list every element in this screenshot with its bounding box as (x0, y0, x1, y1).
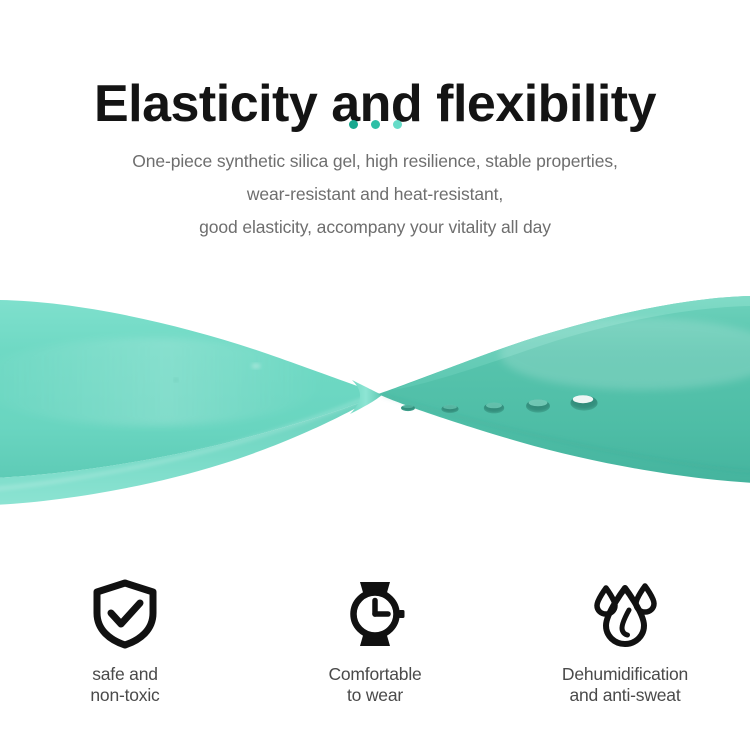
feature-caption: Dehumidification and anti-sweat (562, 664, 688, 706)
feature-caption-line-1: safe and (90, 664, 159, 685)
feature-caption-line-1: Dehumidification (562, 664, 688, 685)
feature-caption-line-2: to wear (328, 685, 421, 706)
product-photo (0, 262, 750, 520)
subtitle-line-3: good elasticity, accompany your vitality… (0, 211, 750, 244)
feature-caption: safe and non-toxic (90, 664, 159, 706)
adjustment-hole-1 (401, 405, 415, 411)
feature-caption-line-1: Comfortable (328, 664, 421, 685)
feature-row: safe and non-toxic (0, 578, 750, 706)
adjustment-hole-2 (441, 405, 458, 413)
subtitle-block: One-piece synthetic silica gel, high res… (0, 145, 750, 244)
feature-comfortable-to-wear: Comfortable to wear (250, 578, 500, 706)
feature-caption: Comfortable to wear (328, 664, 421, 706)
dot-separator (0, 120, 750, 129)
band-speck-2 (174, 379, 178, 382)
wristwatch-icon (340, 578, 410, 650)
separator-dot-1 (349, 120, 358, 129)
shield-check-icon (91, 578, 159, 650)
feature-safe-non-toxic: safe and non-toxic (0, 578, 250, 706)
product-feature-page: Elasticity and flexibility One-piece syn… (0, 0, 750, 750)
adjustment-hole-4 (526, 399, 550, 412)
feature-dehumidification: Dehumidification and anti-sweat (500, 578, 750, 706)
feature-caption-line-2: and anti-sweat (562, 685, 688, 706)
feature-caption-line-2: non-toxic (90, 685, 159, 706)
water-drops-icon (587, 578, 663, 650)
subtitle-line-2: wear-resistant and heat-resistant, (0, 178, 750, 211)
band-speck-1 (252, 364, 261, 368)
separator-dot-2 (371, 120, 380, 129)
separator-dot-3 (393, 120, 402, 129)
silicone-band-illustration (0, 262, 750, 520)
subtitle-line-1: One-piece synthetic silica gel, high res… (0, 145, 750, 178)
adjustment-hole-3 (484, 403, 504, 414)
